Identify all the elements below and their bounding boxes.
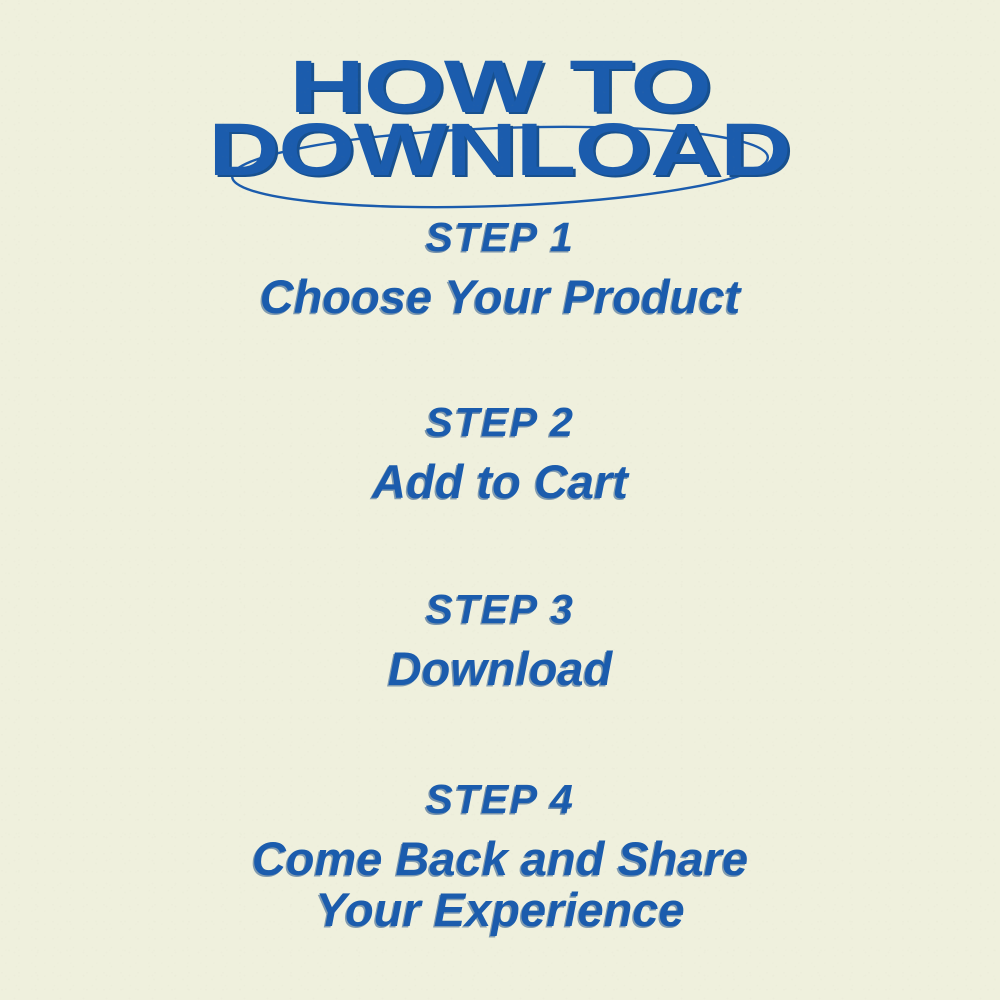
step-2-label: STEP 2: [0, 401, 1000, 444]
step-3-label: STEP 3: [0, 588, 1000, 631]
poster-header: HOW TO HOW TO DOWNLOAD DOWNLOAD: [0, 34, 1000, 194]
title-line2: DOWNLOAD: [208, 109, 790, 191]
title-artwork: HOW TO HOW TO DOWNLOAD DOWNLOAD: [0, 34, 1000, 194]
step-4-description: Come Back and Share Your Experience: [0, 834, 1000, 936]
step-item-2: STEP 2 Add to Cart: [0, 401, 1000, 508]
step-1-label: STEP 1: [0, 216, 1000, 259]
step-1-description: Choose Your Product: [0, 272, 1000, 323]
step-4-label: STEP 4: [0, 778, 1000, 821]
step-item-3: STEP 3 Download: [0, 588, 1000, 695]
step-item-1: STEP 1 Choose Your Product: [0, 216, 1000, 323]
step-2-description: Add to Cart: [0, 457, 1000, 508]
step-item-4: STEP 4 Come Back and Share Your Experien…: [0, 778, 1000, 936]
how-to-download-poster: HOW TO HOW TO DOWNLOAD DOWNLOAD STEP 1 C…: [0, 0, 1000, 1000]
step-3-description: Download: [0, 644, 1000, 695]
